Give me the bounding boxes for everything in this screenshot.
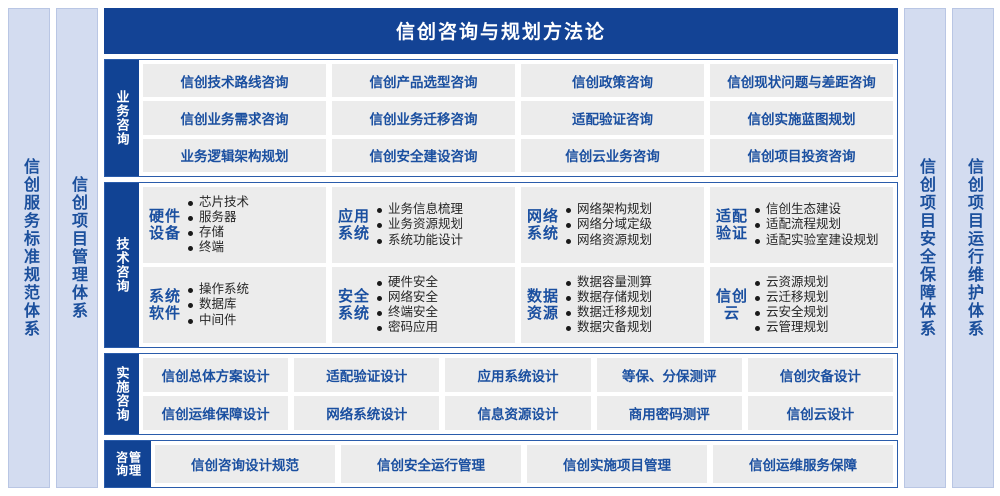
tile[interactable]: 信创安全建设咨询 bbox=[332, 139, 515, 172]
tech-card-title: 适配 验证 bbox=[716, 208, 748, 243]
pillar-label: 信创服务标准规范体系 bbox=[21, 158, 37, 338]
tile[interactable]: 信创技术路线咨询 bbox=[143, 64, 326, 97]
tech-card[interactable]: 安全 系统 硬件安全网络安全终端安全密码应用 bbox=[332, 267, 515, 343]
tech-card-list-item: 芯片技术 bbox=[187, 195, 320, 210]
band-label-business: 业务咨询 bbox=[105, 60, 139, 176]
tile[interactable]: 信创咨询设计规范 bbox=[155, 445, 335, 483]
tile[interactable]: 信创总体方案设计 bbox=[143, 358, 288, 392]
band-label-management-col2: 管理 bbox=[129, 451, 141, 477]
band-body-implementation: 信创总体方案设计 适配验证设计 应用系统设计 等保、分保测评 信创灾备设计 信创… bbox=[139, 354, 897, 434]
tile-row: 信创咨询设计规范 信创安全运行管理 信创实施项目管理 信创运维服务保障 bbox=[155, 445, 893, 483]
tech-card-title: 数据 资源 bbox=[527, 288, 559, 323]
tile[interactable]: 适配验证咨询 bbox=[521, 101, 704, 134]
pillar-service-standard: 信创服务标准规范体系 bbox=[8, 8, 50, 488]
tile[interactable]: 等保、分保测评 bbox=[597, 358, 742, 392]
tech-card-list: 数据容量测算数据存储规划数据迁移规划数据灾备规划 bbox=[565, 275, 698, 336]
tech-card-list-item: 数据存储规划 bbox=[565, 290, 698, 305]
pillar-label: 信创项目运行维护体系 bbox=[965, 158, 981, 338]
tech-card-list-item: 中间件 bbox=[187, 313, 320, 328]
tech-card-title: 网络 系统 bbox=[527, 208, 559, 243]
tile-row: 信创总体方案设计 适配验证设计 应用系统设计 等保、分保测评 信创灾备设计 bbox=[143, 358, 893, 392]
tile-row: 信创技术路线咨询 信创产品选型咨询 信创政策咨询 信创现状问题与差距咨询 bbox=[143, 64, 893, 97]
page-title: 信创咨询与规划方法论 bbox=[104, 8, 898, 54]
tile[interactable]: 信创产品选型咨询 bbox=[332, 64, 515, 97]
tech-card-list-item: 数据灾备规划 bbox=[565, 320, 698, 335]
tech-card-list: 云资源规划云迁移规划云安全规划云管理规划 bbox=[754, 275, 887, 336]
tech-card-list: 芯片技术服务器存储终端 bbox=[187, 195, 320, 256]
tech-card-list: 硬件安全网络安全终端安全密码应用 bbox=[376, 275, 509, 336]
tech-card-list-item: 云安全规划 bbox=[754, 305, 887, 320]
band-body-management: 信创咨询设计规范 信创安全运行管理 信创实施项目管理 信创运维服务保障 bbox=[151, 441, 897, 487]
tech-card-list-item: 适配实验室建设规划 bbox=[754, 233, 887, 248]
tile[interactable]: 信创现状问题与差距咨询 bbox=[710, 64, 893, 97]
tech-card-title: 信创 云 bbox=[716, 288, 748, 323]
tile-row: 信创业务需求咨询 信创业务迁移咨询 适配验证咨询 信创实施蓝图规划 bbox=[143, 101, 893, 134]
band-body-technical: 硬件 设备 芯片技术服务器存储终端 应用 系统 业务信息梳理业务资源规划系统功能… bbox=[139, 183, 897, 347]
tech-card-list-item: 数据容量测算 bbox=[565, 275, 698, 290]
tech-card[interactable]: 信创 云 云资源规划云迁移规划云安全规划云管理规划 bbox=[710, 267, 893, 343]
tile[interactable]: 信创运维服务保障 bbox=[713, 445, 893, 483]
tech-card[interactable]: 硬件 设备 芯片技术服务器存储终端 bbox=[143, 187, 326, 263]
tech-card-list: 信创生态建设适配流程规划适配实验室建设规划 bbox=[754, 202, 887, 248]
center-column: 信创咨询与规划方法论 业务咨询 信创技术路线咨询 信创产品选型咨询 信创政策咨询… bbox=[104, 8, 898, 488]
tech-card-list-item: 终端安全 bbox=[376, 305, 509, 320]
tech-card-list-item: 云管理规划 bbox=[754, 320, 887, 335]
tile[interactable]: 信创项目投资咨询 bbox=[710, 139, 893, 172]
tile[interactable]: 信创运维保障设计 bbox=[143, 396, 288, 430]
tech-card-list-item: 密码应用 bbox=[376, 320, 509, 335]
tech-card-title: 硬件 设备 bbox=[149, 208, 181, 243]
tech-card-list-item: 业务信息梳理 bbox=[376, 202, 509, 217]
tech-card-list-item: 数据库 bbox=[187, 297, 320, 312]
card-row: 系统 软件 操作系统数据库中间件 安全 系统 硬件安全网络安全终端安全密码应用 … bbox=[143, 267, 893, 343]
tile[interactable]: 信创云业务咨询 bbox=[521, 139, 704, 172]
tile[interactable]: 信息资源设计 bbox=[445, 396, 590, 430]
tech-card-list-item: 存储 bbox=[187, 225, 320, 240]
card-row: 硬件 设备 芯片技术服务器存储终端 应用 系统 业务信息梳理业务资源规划系统功能… bbox=[143, 187, 893, 263]
tile[interactable]: 信创灾备设计 bbox=[748, 358, 893, 392]
tech-card-list-item: 云迁移规划 bbox=[754, 290, 887, 305]
tile[interactable]: 信创业务迁移咨询 bbox=[332, 101, 515, 134]
pillar-project-security: 信创项目安全保障体系 bbox=[904, 8, 946, 488]
tech-card-list-item: 网络安全 bbox=[376, 290, 509, 305]
tech-card-list-item: 网络架构规划 bbox=[565, 202, 698, 217]
tile[interactable]: 信创业务需求咨询 bbox=[143, 101, 326, 134]
tile[interactable]: 信创实施项目管理 bbox=[527, 445, 707, 483]
pillar-label: 信创项目管理体系 bbox=[69, 176, 85, 320]
tech-card-list-item: 系统功能设计 bbox=[376, 233, 509, 248]
band-label-management: 咨询 管理 bbox=[105, 441, 151, 487]
tech-card-list: 操作系统数据库中间件 bbox=[187, 282, 320, 328]
band-label-management-col1: 咨询 bbox=[116, 451, 128, 477]
tech-card-list-item: 操作系统 bbox=[187, 282, 320, 297]
band-label-technical: 技术咨询 bbox=[105, 183, 139, 347]
tile[interactable]: 业务逻辑架构规划 bbox=[143, 139, 326, 172]
band-label-implementation: 实施咨询 bbox=[105, 354, 139, 434]
band-business-consulting: 业务咨询 信创技术路线咨询 信创产品选型咨询 信创政策咨询 信创现状问题与差距咨… bbox=[104, 59, 898, 177]
tech-card-list-item: 硬件安全 bbox=[376, 275, 509, 290]
tech-card[interactable]: 应用 系统 业务信息梳理业务资源规划系统功能设计 bbox=[332, 187, 515, 263]
methodology-diagram: 信创服务标准规范体系 信创项目管理体系 信创咨询与规划方法论 业务咨询 信创技术… bbox=[0, 0, 1000, 496]
tech-card-list-item: 信创生态建设 bbox=[754, 202, 887, 217]
tile[interactable]: 适配验证设计 bbox=[294, 358, 439, 392]
band-technical-consulting: 技术咨询 硬件 设备 芯片技术服务器存储终端 应用 系统 业务信息梳理业务资源规… bbox=[104, 182, 898, 348]
tech-card-list-item: 数据迁移规划 bbox=[565, 305, 698, 320]
pillar-project-management: 信创项目管理体系 bbox=[56, 8, 98, 488]
tile[interactable]: 信创安全运行管理 bbox=[341, 445, 521, 483]
band-implementation-consulting: 实施咨询 信创总体方案设计 适配验证设计 应用系统设计 等保、分保测评 信创灾备… bbox=[104, 353, 898, 435]
band-consulting-management: 咨询 管理 信创咨询设计规范 信创安全运行管理 信创实施项目管理 信创运维服务保… bbox=[104, 440, 898, 488]
tech-card-list-item: 网络分域定级 bbox=[565, 217, 698, 232]
tile[interactable]: 信创实施蓝图规划 bbox=[710, 101, 893, 134]
tech-card[interactable]: 适配 验证 信创生态建设适配流程规划适配实验室建设规划 bbox=[710, 187, 893, 263]
tech-card-list-item: 终端 bbox=[187, 240, 320, 255]
tech-card-list: 网络架构规划网络分域定级网络资源规划 bbox=[565, 202, 698, 248]
tech-card-title: 系统 软件 bbox=[149, 288, 181, 323]
tech-card-list-item: 网络资源规划 bbox=[565, 233, 698, 248]
tile[interactable]: 商用密码测评 bbox=[597, 396, 742, 430]
pillar-project-operations: 信创项目运行维护体系 bbox=[952, 8, 994, 488]
pillar-label: 信创项目安全保障体系 bbox=[917, 158, 933, 338]
tech-card-list-item: 云资源规划 bbox=[754, 275, 887, 290]
tech-card[interactable]: 系统 软件 操作系统数据库中间件 bbox=[143, 267, 326, 343]
tech-card[interactable]: 数据 资源 数据容量测算数据存储规划数据迁移规划数据灾备规划 bbox=[521, 267, 704, 343]
band-body-business: 信创技术路线咨询 信创产品选型咨询 信创政策咨询 信创现状问题与差距咨询 信创业… bbox=[139, 60, 897, 176]
tech-card[interactable]: 网络 系统 网络架构规划网络分域定级网络资源规划 bbox=[521, 187, 704, 263]
tile[interactable]: 信创云设计 bbox=[748, 396, 893, 430]
tile-row: 业务逻辑架构规划 信创安全建设咨询 信创云业务咨询 信创项目投资咨询 bbox=[143, 139, 893, 172]
tech-card-list-item: 适配流程规划 bbox=[754, 217, 887, 232]
tile[interactable]: 网络系统设计 bbox=[294, 396, 439, 430]
tech-card-title: 安全 系统 bbox=[338, 288, 370, 323]
tech-card-list-item: 服务器 bbox=[187, 210, 320, 225]
tech-card-list: 业务信息梳理业务资源规划系统功能设计 bbox=[376, 202, 509, 248]
tech-card-list-item: 业务资源规划 bbox=[376, 217, 509, 232]
tile-row: 信创运维保障设计 网络系统设计 信息资源设计 商用密码测评 信创云设计 bbox=[143, 396, 893, 430]
tile[interactable]: 应用系统设计 bbox=[445, 358, 590, 392]
tile[interactable]: 信创政策咨询 bbox=[521, 64, 704, 97]
tech-card-title: 应用 系统 bbox=[338, 208, 370, 243]
